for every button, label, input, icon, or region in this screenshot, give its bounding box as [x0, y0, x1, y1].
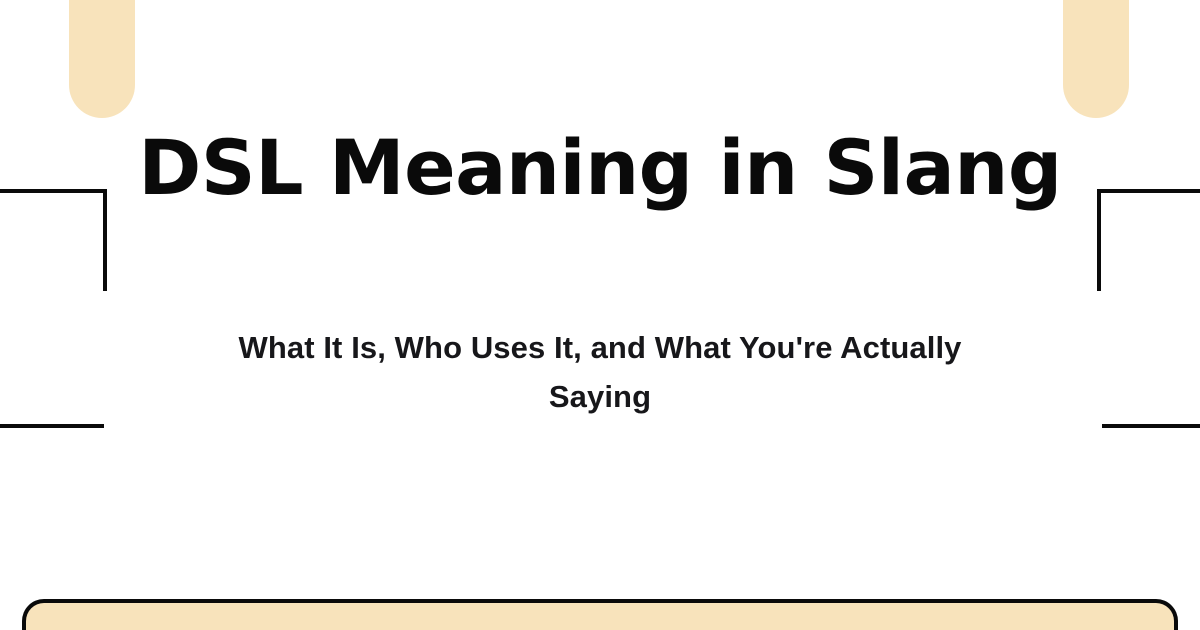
bottom-accent-panel [22, 599, 1178, 630]
page-title: DSL Meaning in Slang [0, 130, 1200, 206]
horizontal-rule-right [1102, 424, 1200, 428]
cream-pill-right [1063, 0, 1129, 118]
page-subtitle: What It Is, Who Uses It, and What You're… [185, 324, 1015, 422]
social-card: DSL Meaning in Slang What It Is, Who Use… [0, 0, 1200, 630]
hero-text-block: DSL Meaning in Slang What It Is, Who Use… [0, 130, 1200, 422]
horizontal-rule-left [0, 424, 104, 428]
cream-pill-left [69, 0, 135, 118]
